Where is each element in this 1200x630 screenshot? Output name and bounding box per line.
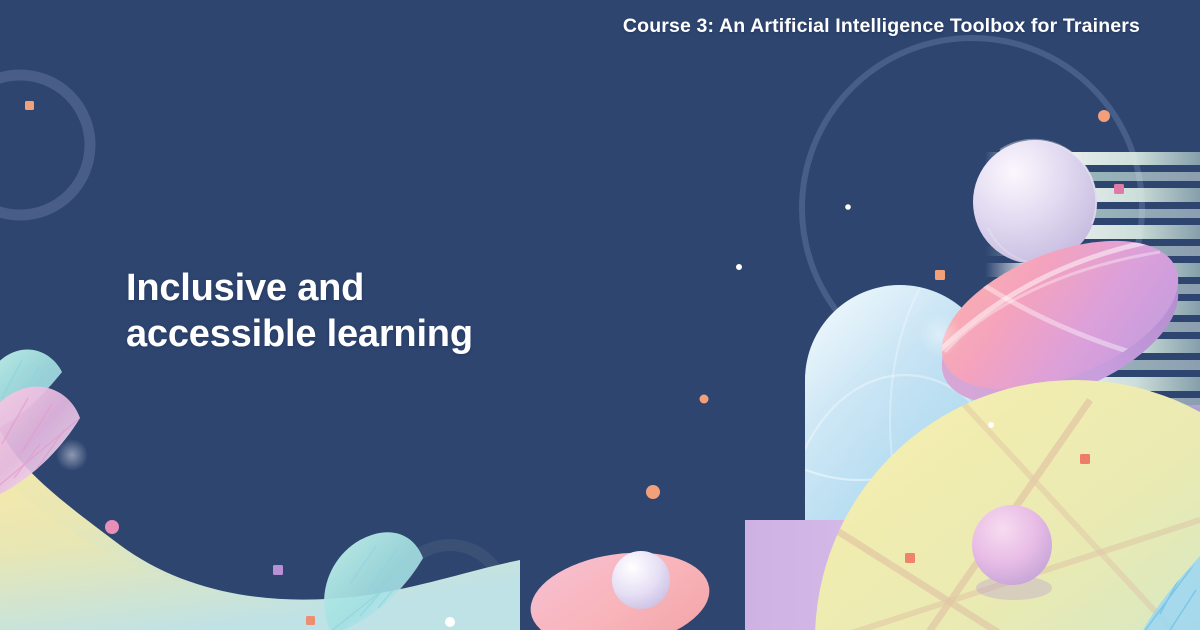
- square-orange-topleft: [25, 101, 34, 110]
- dot-pink-left: [105, 520, 119, 534]
- page-title-line-1: Inclusive and: [126, 265, 473, 311]
- glow-disc: [918, 313, 962, 357]
- dot-white-center: [736, 264, 742, 270]
- dot-orange-upper-right: [1098, 110, 1110, 122]
- square-pink-stripes: [1114, 184, 1124, 194]
- course-header: Course 3: An Artificial Intelligence Too…: [623, 15, 1140, 38]
- dot-orange-center: [700, 395, 709, 404]
- dot-white-right: [845, 204, 851, 210]
- sphere-lavender-bottom: [612, 551, 670, 609]
- dot-white-ring: [445, 617, 455, 627]
- square-orange-wave: [306, 616, 315, 625]
- square-red-globe-upper: [1080, 454, 1090, 464]
- page-title: Inclusive and accessible learning: [126, 265, 473, 358]
- square-purple-wave: [273, 565, 283, 575]
- page-title-line-2: accessible learning: [126, 311, 473, 357]
- slide-canvas: Course 3: An Artificial Intelligence Too…: [0, 0, 1200, 630]
- dot-orange-lower: [646, 485, 660, 499]
- square-orange-mid: [935, 270, 945, 280]
- glow-left: [56, 439, 88, 471]
- square-red-globe-lower: [905, 553, 915, 563]
- sphere-pink-on-globe: [972, 505, 1052, 600]
- dot-white-arch: [988, 422, 994, 428]
